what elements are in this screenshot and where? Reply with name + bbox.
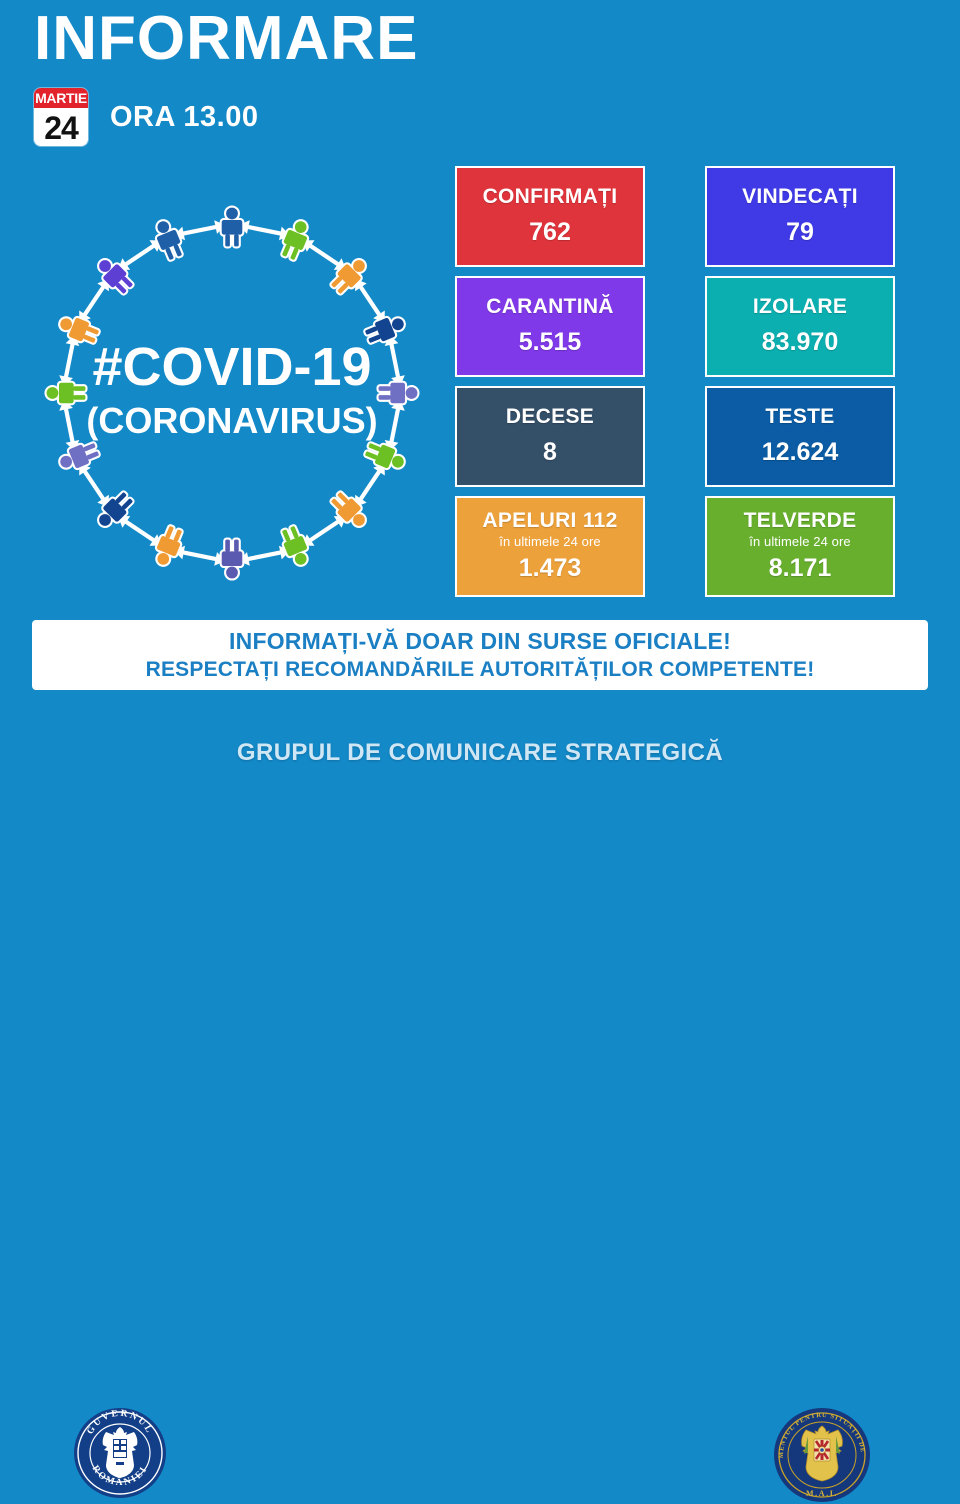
person-icon [222,540,243,579]
person-icon [57,440,101,474]
stat-label: DECESE [506,406,594,428]
person-icon [152,218,186,262]
stat-card-confirma-i: CONFIRMAȚI762 [455,166,645,267]
stat-label: VINDECAȚI [742,186,858,208]
stat-sublabel: în ultimele 24 ore [749,534,851,549]
guvernul-romaniei-seal: GUVERNUL ROMÂNIEI [72,1406,168,1500]
stat-sublabel: în ultimele 24 ore [499,534,601,549]
double-arrow-icon [385,335,405,387]
stat-label: CARANTINĂ [486,296,614,318]
double-arrow-icon [355,463,385,507]
double-arrow-icon [355,279,385,323]
calendar-day-label: 24 [34,110,88,146]
stat-card-telverde: TELVERDEîn ultimele 24 ore8.171 [705,496,895,597]
banner-line-1: INFORMAȚI-VĂ DOAR DIN SURSE OFICIALE! [229,628,731,655]
stat-card-vindeca-i: VINDECAȚI79 [705,166,895,267]
person-icon [222,208,243,247]
double-arrow-icon [385,400,405,452]
statistics-grid: CONFIRMAȚI762VINDECAȚI79CARANTINĂ5.515IZ… [455,166,895,606]
report-hour-label: ORA 13.00 [110,101,259,134]
double-arrow-icon [118,516,162,546]
stat-label: APELURI 112 [482,510,617,532]
double-arrow-icon [239,546,291,566]
double-arrow-icon [59,400,79,452]
stat-card-decese: DECESE8 [455,386,645,487]
person-icon [152,524,186,568]
double-arrow-icon [118,240,162,270]
stat-label: CONFIRMAȚI [483,186,618,208]
person-icon [279,218,313,262]
calendar-icon: MARTIE 24 [34,88,88,146]
stat-card-izolare: IZOLARE83.970 [705,276,895,377]
stat-label: TELVERDE [744,510,857,532]
footer-organization-label: GRUPUL DE COMUNICARE STRATEGICĂ [0,700,960,806]
stat-card-apeluri-112: APELURI 112în ultimele 24 ore1.473 [455,496,645,597]
double-arrow-icon [174,220,226,240]
calendar-month-label: MARTIE [34,88,88,110]
stat-value: 12.624 [762,438,838,467]
covid-people-circle-graphic: #COVID-19 (CORONAVIRUS) [22,175,442,615]
person-icon [379,383,418,404]
stat-card-carantin: CARANTINĂ5.515 [455,276,645,377]
stat-label: IZOLARE [753,296,847,318]
eagle-emblem-icon [103,1427,138,1478]
double-arrow-icon [302,240,346,270]
stat-value: 8 [543,438,557,467]
stat-label: TESTE [765,406,834,428]
stat-value: 762 [529,218,571,247]
footer: GRUPUL DE COMUNICARE STRATEGICĂ GUVERNUL… [0,700,960,806]
person-icon [363,440,407,474]
person-icon [279,524,313,568]
dsu-eagle-icon [802,1426,843,1481]
seal-mai-text: M.A.I. [806,1489,838,1498]
dsu-mai-seal: DEPARTAMENTUL PENTRU SITUAȚII DE URGENȚĂ… [772,1406,872,1504]
double-arrow-icon [302,516,346,546]
stat-value: 8.171 [769,554,832,583]
banner-line-2: RESPECTAȚI RECOMANDĂRILE AUTORITĂȚILOR C… [146,658,815,682]
double-arrow-icon [79,279,109,323]
page-title: INFORMARE [34,8,418,70]
stat-value: 1.473 [519,554,582,583]
covid-hashtag-label: #COVID-19 [92,337,371,397]
person-icon [47,383,86,404]
coronavirus-label: (CORONAVIRUS) [86,400,377,441]
date-row: MARTIE 24 ORA 13.00 [34,88,259,146]
double-arrow-icon [59,335,79,387]
stat-value: 79 [786,218,814,247]
stat-value: 83.970 [762,328,838,357]
double-arrow-icon [239,220,291,240]
header: INFORMARE MARTIE 24 ORA 13.00 [0,0,960,160]
stat-card-teste: TESTE12.624 [705,386,895,487]
covid-circle-svg: #COVID-19 (CORONAVIRUS) [22,175,442,615]
double-arrow-icon [79,463,109,507]
double-arrow-icon [174,546,226,566]
official-sources-banner: INFORMAȚI-VĂ DOAR DIN SURSE OFICIALE! RE… [32,620,928,690]
stat-value: 5.515 [519,328,582,357]
